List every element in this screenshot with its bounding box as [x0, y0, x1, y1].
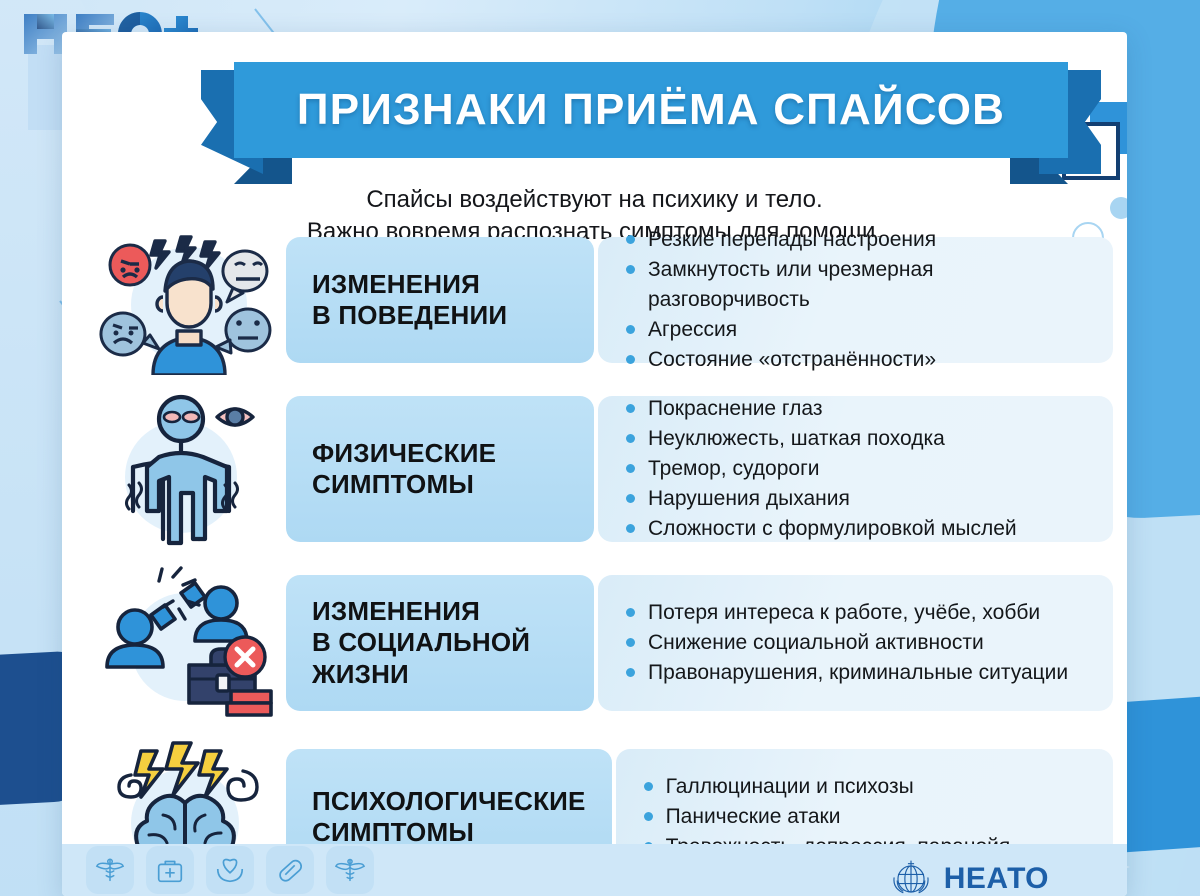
list-item: Потеря интереса к работе, учёбе, хобби: [624, 598, 1068, 628]
label-line-3: ЖИЗНИ: [312, 659, 530, 690]
ribbon-body: ПРИЗНАКИ ПРИЁМА СПАЙСОВ: [234, 62, 1068, 158]
footer-icon-strip: [62, 846, 374, 894]
section-label-behaviour: ИЗМЕНЕНИЯ В ПОВЕДЕНИИ: [286, 237, 594, 363]
trembling-body-red-eye-icon: [90, 389, 286, 549]
section-bullets-social: Потеря интереса к работе, учёбе, хобби С…: [598, 575, 1113, 711]
angry-person-mood-swings-icon: [90, 225, 286, 375]
list-item: Правонарушения, криминальные ситуации: [624, 658, 1068, 688]
list-item: Замкнутость или чрезмерная разговорчивос…: [624, 255, 1095, 315]
list-item: Галлюцинации и психозы: [642, 772, 1011, 802]
poster-card: ПРИЗНАКИ ПРИЁМА СПАЙСОВ Спайсы воздейств…: [62, 32, 1127, 896]
list-item: Состояние «отстранённости»: [624, 345, 1095, 375]
list-item: Тремор, судороги: [624, 454, 1017, 484]
list-item: Агрессия: [624, 315, 1095, 345]
title-ribbon: ПРИЗНАКИ ПРИЁМА СПАЙСОВ: [201, 62, 1101, 187]
list-item: Покраснение глаз: [624, 394, 1017, 424]
heart-in-hands-icon: [206, 846, 254, 894]
infographic-poster: ПРИЗНАКИ ПРИЁМА СПАЙСОВ Спайсы воздейств…: [0, 0, 1200, 896]
section-label-physical: ФИЗИЧЕСКИЕ СИМПТОМЫ: [286, 396, 594, 542]
organization-brand: НЕАТО: [888, 856, 1049, 896]
broken-social-link-briefcase-icon: [90, 563, 286, 723]
section-row-physical: ФИЗИЧЕСКИЕ СИМПТОМЫ Покраснение глаз Неу…: [90, 389, 1113, 549]
label-line-2: В ПОВЕДЕНИИ: [312, 300, 507, 331]
list-item: Резкие перепады настроения: [624, 225, 1095, 255]
list-item: Неуклюжесть, шаткая походка: [624, 424, 1017, 454]
label-line-1: ИЗМЕНЕНИЯ: [312, 596, 530, 627]
list-item: Сложности с формулировкой мыслей: [624, 514, 1017, 544]
page-title: ПРИЗНАКИ ПРИЁМА СПАЙСОВ: [297, 85, 1005, 135]
who-emblem-icon: [888, 856, 934, 896]
section-row-social: ИЗМЕНЕНИЯ В СОЦИАЛЬНОЙ ЖИЗНИ Потеря инте…: [90, 563, 1113, 723]
section-row-behaviour: ИЗМЕНЕНИЯ В ПОВЕДЕНИИ Резкие перепады на…: [90, 225, 1113, 375]
caduceus-wings-icon: [326, 846, 374, 894]
label-line-1: ИЗМЕНЕНИЯ: [312, 269, 507, 300]
caduceus-icon: [86, 846, 134, 894]
label-line-1: ПСИХОЛОГИЧЕСКИЕ: [312, 786, 586, 817]
label-line-2: В СОЦИАЛЬНОЙ: [312, 627, 530, 658]
subtitle-line-1: Спайсы воздействуют на психику и тело.: [62, 184, 1127, 216]
label-line-1: ФИЗИЧЕСКИЕ: [312, 438, 496, 469]
section-label-social: ИЗМЕНЕНИЯ В СОЦИАЛЬНОЙ ЖИЗНИ: [286, 575, 594, 711]
section-bullets-behaviour: Резкие перепады настроения Замкнутость и…: [598, 237, 1113, 363]
section-bullets-physical: Покраснение глаз Неуклюжесть, шаткая пох…: [598, 396, 1113, 542]
list-item: Снижение социальной активности: [624, 628, 1068, 658]
label-line-2: СИМПТОМЫ: [312, 469, 496, 500]
list-item: Панические атаки: [642, 802, 1011, 832]
list-item: Нарушения дыхания: [624, 484, 1017, 514]
first-aid-kit-icon: [146, 846, 194, 894]
organization-label: НЕАТО: [944, 862, 1049, 896]
footer-bar: НЕАТО: [62, 844, 1127, 896]
symptom-sections: ИЗМЕНЕНИЯ В ПОВЕДЕНИИ Резкие перепады на…: [90, 225, 1113, 896]
pill-icon: [266, 846, 314, 894]
